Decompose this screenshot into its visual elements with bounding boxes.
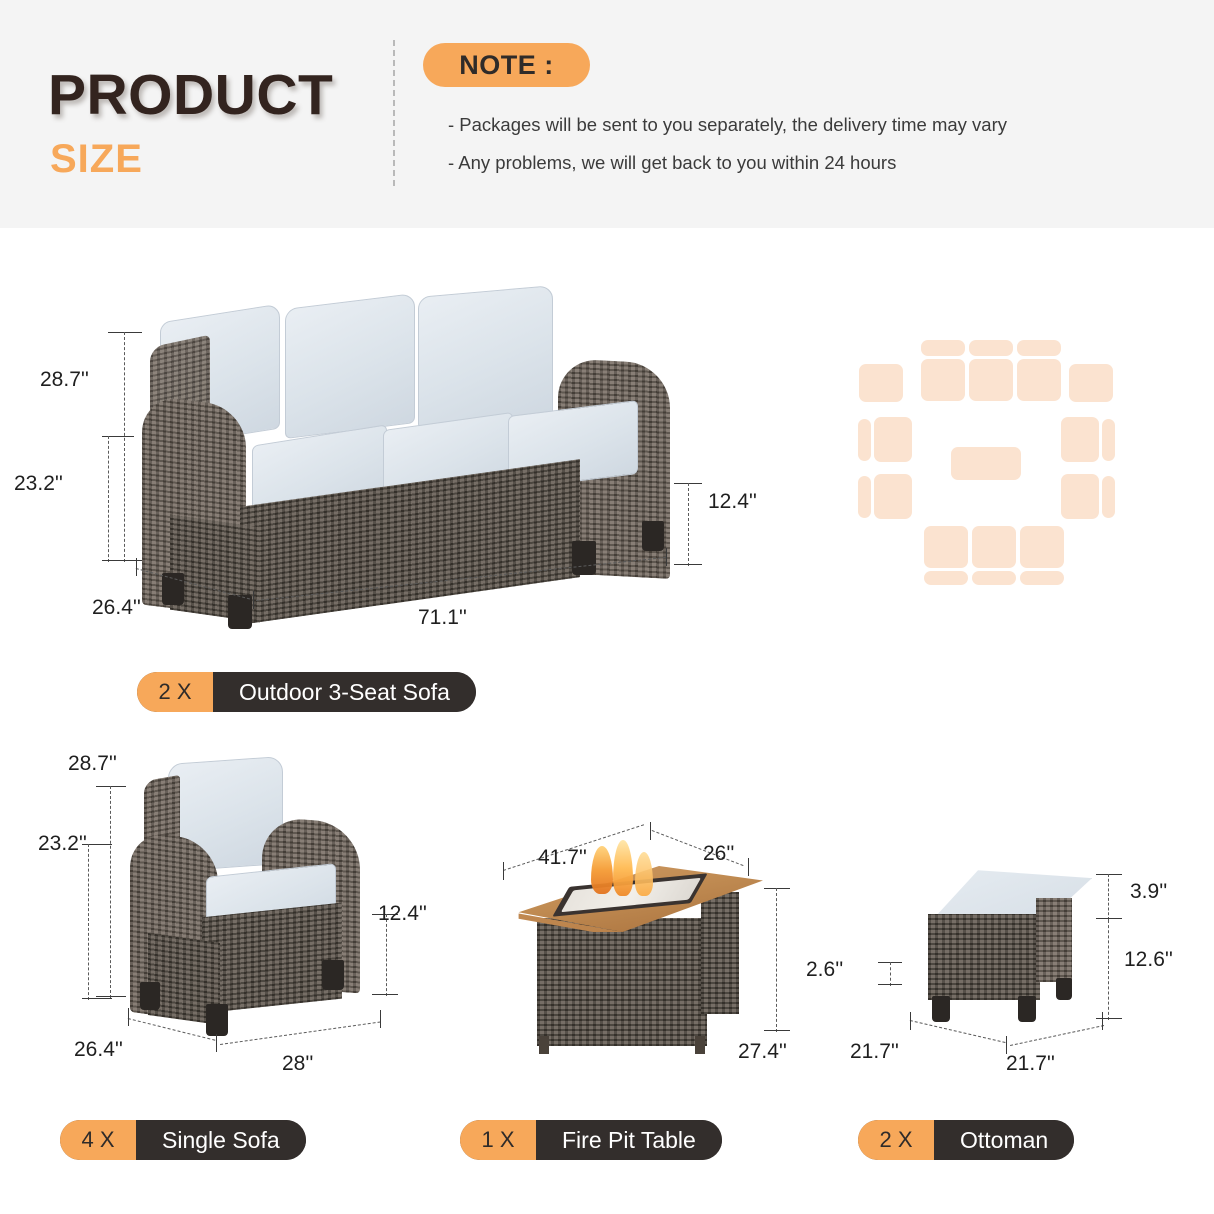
section-bottom-row: 28.7'' 23.2'' 12.4'' 26.4'' 28'' xyxy=(0,740,1214,1214)
badge-name: Outdoor 3-Seat Sofa xyxy=(213,672,476,712)
tick-fp-height-top xyxy=(764,888,790,889)
section-3seat-sofa: 28.7'' 23.2'' 12.4'' 26.4'' 71.1'' xyxy=(0,228,1214,728)
note-label-pill: NOTE : xyxy=(423,43,590,87)
note-label-text: NOTE : xyxy=(459,50,554,81)
badge-qty: 2 X xyxy=(858,1120,934,1160)
guide-ss-287 xyxy=(110,786,111,998)
badge-qty: 4 X xyxy=(60,1120,136,1160)
dim-sofa-seat-height: 12.4'' xyxy=(708,490,757,514)
badge-name: Fire Pit Table xyxy=(536,1120,722,1160)
tick-ss-depth-right xyxy=(216,1034,217,1052)
tick-12-4-bottom xyxy=(674,564,702,565)
header-band: PRODUCT SIZE NOTE : - Packages will be s… xyxy=(0,0,1214,228)
fire-pit-table-image xyxy=(495,840,795,1060)
badge-name: Ottoman xyxy=(934,1120,1074,1160)
badge-qty: 1 X xyxy=(460,1120,536,1160)
tick-ot-depth-left xyxy=(910,1012,911,1030)
tick-ss-width-right xyxy=(380,1010,381,1028)
tick-ss-depth-left xyxy=(128,1008,129,1026)
header-divider xyxy=(393,40,395,186)
guide-12-4 xyxy=(688,483,689,566)
guide-ss-232 xyxy=(88,844,89,1000)
dim-single-seat-height: 12.4'' xyxy=(378,902,427,926)
dim-ottoman-cushion: 3.9'' xyxy=(1130,880,1167,904)
tick-ot-width-right xyxy=(1102,1012,1103,1030)
tick-23-2-bottom xyxy=(102,560,134,561)
ottoman-image xyxy=(890,868,1110,1038)
dim-firepit-width: 26'' xyxy=(703,842,734,866)
tick-ot-26-bottom xyxy=(878,984,902,985)
single-sofa-image xyxy=(110,760,400,1050)
dim-single-width: 28'' xyxy=(282,1052,313,1076)
note-item-1: - Packages will be sent to you separatel… xyxy=(448,114,1007,136)
dim-firepit-length: 41.7'' xyxy=(538,846,587,870)
dim-single-arm-height: 23.2'' xyxy=(38,832,87,856)
dim-sofa-width: 71.1'' xyxy=(418,606,467,630)
guide-fp-height xyxy=(776,888,777,1032)
dim-ottoman-depth: 21.7'' xyxy=(850,1040,899,1064)
product-size-infographic: PRODUCT SIZE NOTE : - Packages will be s… xyxy=(0,0,1214,1214)
tick-ss-232-bottom xyxy=(82,998,112,999)
tick-ot-39-bottom xyxy=(1096,918,1122,919)
badge-name: Single Sofa xyxy=(136,1120,306,1160)
guide-ot-26 xyxy=(890,962,891,986)
dim-ottoman-body-height: 12.6'' xyxy=(1124,948,1173,972)
dim-sofa-back-height: 28.7'' xyxy=(40,368,89,392)
tick-depth-left xyxy=(136,558,137,576)
tick-ss-287-top xyxy=(96,786,126,787)
badge-single-sofa[interactable]: 4 X Single Sofa xyxy=(60,1120,306,1160)
dim-single-back-height: 28.7'' xyxy=(68,752,117,776)
tick-depth-right xyxy=(253,591,254,609)
tick-fp-width-right xyxy=(748,858,749,876)
dim-firepit-height: 27.4'' xyxy=(738,1040,787,1064)
badge-outdoor-3-seat-sofa[interactable]: 2 X Outdoor 3-Seat Sofa xyxy=(137,672,476,712)
guide-ss-124 xyxy=(386,914,387,996)
badge-ottoman[interactable]: 2 X Ottoman xyxy=(858,1120,1074,1160)
tick-fp-height-bottom xyxy=(764,1030,790,1031)
page-subtitle: SIZE xyxy=(50,137,143,182)
dim-sofa-depth: 26.4'' xyxy=(92,596,141,620)
guide-ot-39 xyxy=(1108,874,1109,920)
note-item-2: - Any problems, we will get back to you … xyxy=(448,152,896,174)
guide-23-2 xyxy=(108,436,109,562)
dim-single-depth: 26.4'' xyxy=(74,1038,123,1062)
tick-ss-124-bottom xyxy=(372,994,398,995)
tick-fp-length-left xyxy=(503,862,504,880)
tick-width-right xyxy=(666,548,667,566)
tick-ss-287-bottom xyxy=(96,996,126,997)
tick-28-7-top xyxy=(108,332,142,333)
dim-ottoman-width: 21.7'' xyxy=(1006,1052,1055,1076)
page-title: PRODUCT xyxy=(48,62,333,128)
sofa-3seat-image xyxy=(140,283,700,603)
tick-ot-126-bottom xyxy=(1096,1018,1122,1019)
badge-fire-pit-table[interactable]: 1 X Fire Pit Table xyxy=(460,1120,722,1160)
tick-23-2-top xyxy=(102,436,134,437)
guide-ot-126 xyxy=(1108,920,1109,1020)
guide-28-7 xyxy=(124,332,125,562)
tick-ot-39-top xyxy=(1096,874,1122,875)
dim-sofa-arm-height: 23.2'' xyxy=(14,472,63,496)
layout-diagram xyxy=(838,336,1128,586)
dim-ottoman-leg-height: 2.6'' xyxy=(806,958,843,982)
badge-qty: 2 X xyxy=(137,672,213,712)
